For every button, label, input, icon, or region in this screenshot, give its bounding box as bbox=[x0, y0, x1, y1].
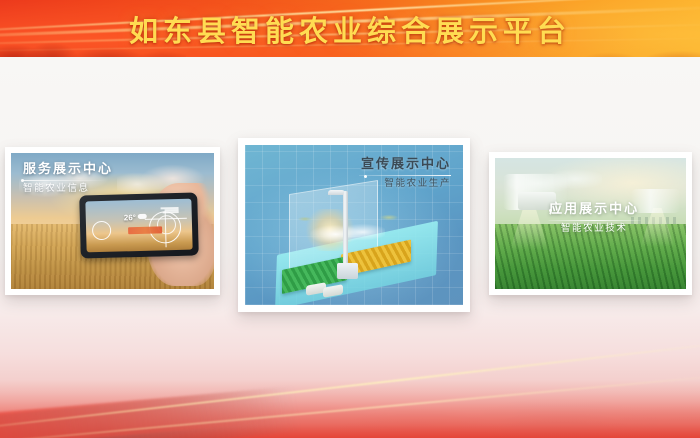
page-title: 如东县智能农业综合展示平台 bbox=[0, 0, 700, 57]
phone-screen: 26° bbox=[85, 198, 192, 252]
irrigation-pole-icon bbox=[343, 191, 348, 265]
hud-chip bbox=[128, 226, 162, 234]
temperature-readout: 26° bbox=[124, 213, 136, 222]
divider bbox=[548, 220, 640, 221]
card-service-display-center[interactable]: 26° 服务展示中心 智能农业信息 bbox=[5, 147, 220, 295]
divider bbox=[359, 175, 451, 176]
header-banner: 如东县智能农业综合展示平台 bbox=[0, 0, 700, 57]
card-publicity-display-center[interactable]: 宣传展示中心 智能农业生产 bbox=[238, 138, 470, 312]
water-bucket-icon bbox=[337, 263, 359, 279]
smartphone-icon: 26° bbox=[79, 192, 198, 258]
drone-icon bbox=[376, 212, 402, 223]
bullet-dot-icon bbox=[364, 175, 367, 178]
app-stage: 如东县智能农业综合展示平台 26° bbox=[0, 0, 700, 438]
card-service-label-group: 服务展示中心 智能农业信息 bbox=[23, 162, 113, 195]
bullet-dot-icon bbox=[549, 209, 552, 212]
card-application-display-center[interactable]: 应用展示中心 智能农业技术 bbox=[489, 152, 692, 295]
card-publicity-label-group: 宣传展示中心 智能农业生产 bbox=[359, 157, 451, 190]
bullet-dot-icon bbox=[21, 179, 24, 182]
card-publicity-image: 宣传展示中心 智能农业生产 bbox=[245, 145, 463, 305]
card-application-title: 应用展示中心 bbox=[548, 202, 640, 216]
card-application-subtitle: 智能农业技术 bbox=[548, 224, 640, 234]
card-service-image: 26° 服务展示中心 智能农业信息 bbox=[11, 153, 214, 289]
cloud-icon bbox=[138, 214, 147, 219]
card-publicity-subtitle: 智能农业生产 bbox=[359, 179, 451, 189]
drone-icon bbox=[295, 215, 315, 223]
card-application-image: 应用展示中心 智能农业技术 bbox=[495, 158, 686, 289]
divider bbox=[23, 180, 107, 181]
card-application-label-group: 应用展示中心 智能农业技术 bbox=[548, 202, 640, 235]
card-publicity-title: 宣传展示中心 bbox=[359, 157, 451, 171]
hud-ring-icon bbox=[92, 221, 111, 240]
hud-bar bbox=[163, 211, 179, 213]
card-service-subtitle: 智能农业信息 bbox=[23, 184, 113, 194]
card-service-title: 服务展示中心 bbox=[23, 162, 113, 176]
